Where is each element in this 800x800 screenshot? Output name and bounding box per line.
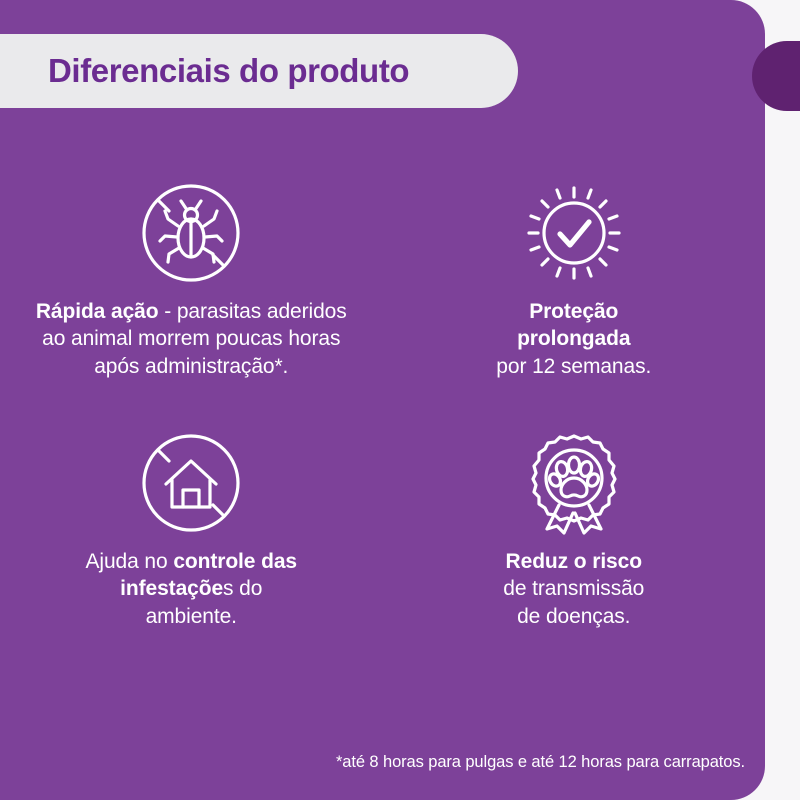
no-flea-icon [132,174,250,292]
paw-badge-icon [515,424,633,542]
footnote: *até 8 horas para pulgas e até 12 horas … [336,753,745,772]
no-house-icon [132,424,250,542]
feature-card-rapida-acao: Rápida ação - parasitas aderidosao anima… [0,160,383,410]
check-sun-icon [515,174,633,292]
feature-text-reduz-risco: Reduz o riscode transmissãode doenças. [503,548,644,630]
feature-text-controle-infestacoes: Ajuda no controle dasinfestações doambie… [85,548,297,630]
infographic-canvas: Diferenciais do produto [0,0,800,800]
feature-text-rapida-acao: Rápida ação - parasitas aderidosao anima… [36,298,347,380]
title-pill: Diferenciais do produto [0,34,518,108]
feature-card-protecao-prolongada: Proteçãoprolongadapor 12 semanas. [383,160,766,410]
feature-text-protecao-prolongada: Proteçãoprolongadapor 12 semanas. [496,298,651,380]
feature-card-reduz-risco: Reduz o riscode transmissãode doenças. [383,410,766,660]
features-grid: Rápida ação - parasitas aderidosao anima… [0,160,765,660]
page-title: Diferenciais do produto [48,52,409,90]
feature-card-controle-infestacoes: Ajuda no controle dasinfestações doambie… [0,410,383,660]
